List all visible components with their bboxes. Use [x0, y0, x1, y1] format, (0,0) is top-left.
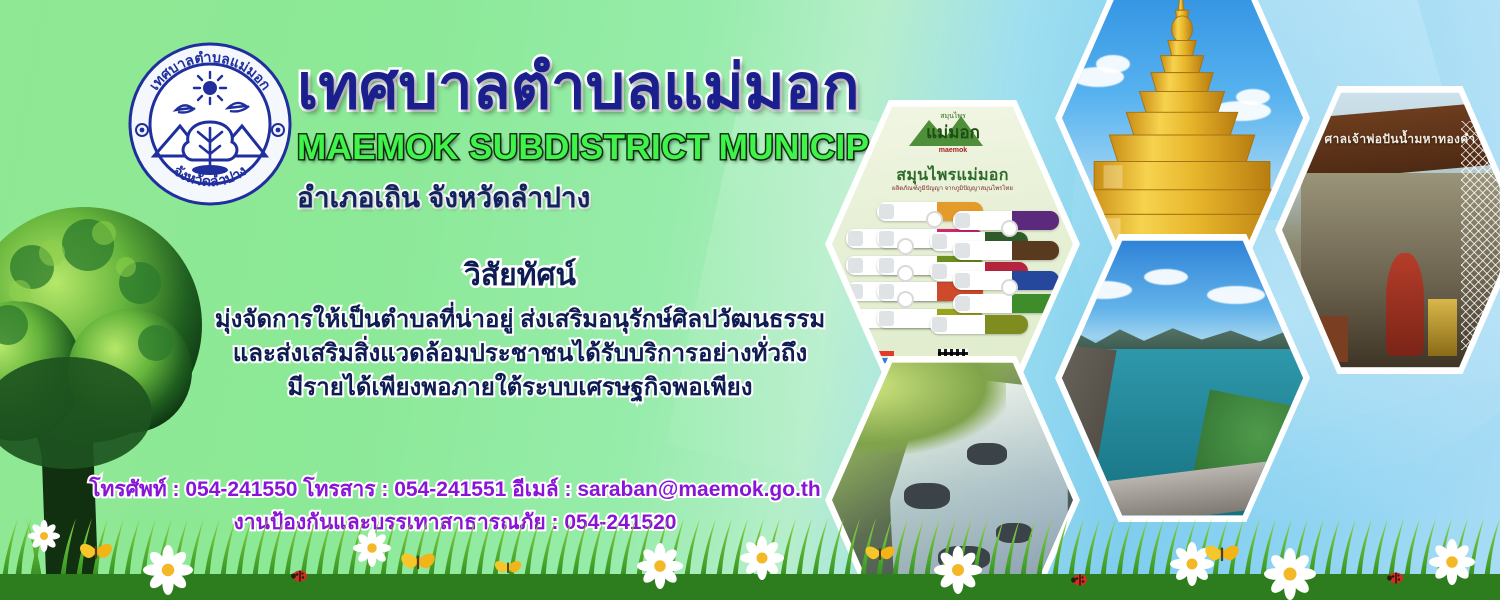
vision-block: วิสัยทัศน์ มุ่งจัดการให้เป็นตำบลที่น่าอย…: [210, 252, 830, 405]
herbal-logo-text: แม่มอก: [926, 123, 980, 142]
contact-line-phone-fax-email[interactable]: โทรศัพท์ : 054-241550 โทรสาร : 054-24155…: [60, 474, 850, 507]
municipality-emblem: เทศบาลตำบลแม่มอก จังหวัดลำปาง: [124, 34, 296, 210]
hexagon-photo-shrine[interactable]: ศาลเจ้าพ่อปันน้ำมหาทองคำ: [1275, 80, 1500, 380]
pagoda-caption-sub1: บ้านกุ่ม: [1265, 0, 1297, 5]
herbal-logo-roman: maemok: [938, 147, 967, 154]
herbal-product-grid: [842, 196, 1063, 345]
photo-hexagon-collage: แม่มอก สมุนไพร maemok สมุนไพรแม่มอก ผลิต…: [805, 0, 1500, 574]
hexagon-photo-herbal-poster[interactable]: แม่มอก สมุนไพร maemok สมุนไพรแม่มอก ผลิต…: [825, 94, 1080, 394]
site-header-banner: เทศบาลตำบลแม่มอก จังหวัดลำปาง เทศบาลตำบล…: [0, 0, 1500, 600]
pagoda-caption-sub2: อำเภอ: [1265, 5, 1297, 16]
hexagon-photo-dam-reservoir[interactable]: [1055, 228, 1310, 528]
vision-line-1: มุ่งจัดการให้เป็นตำบลที่น่าอยู่ ส่งเสริม…: [210, 303, 830, 337]
herbal-poster-subtitle: ผลิตภัณฑ์ภูมิปัญญา จากภูมิปัญญาสมุนไพรไท…: [832, 183, 1073, 193]
vision-line-2: และส่งเสริมสิ่งแวดล้อมประชาชนได้รับบริกา…: [210, 337, 830, 371]
grass-border-decor: [0, 508, 1500, 600]
hexagon-photo-golden-pagoda[interactable]: วัดพระ บ้านกุ่ม อำเภอ: [1055, 0, 1310, 268]
pagoda-caption: วัดพระ บ้านกุ่ม อำเภอ: [1265, 0, 1297, 15]
vision-heading: วิสัยทัศน์: [210, 252, 830, 299]
herbal-logo-sub: สมุนไพร: [940, 111, 966, 120]
vision-line-3: มีรายได้เพียงพอภายใต้ระบบเศรษฐกิจพอเพียง: [210, 371, 830, 405]
herbal-brand-logo: แม่มอก สมุนไพร maemok: [899, 108, 1007, 160]
